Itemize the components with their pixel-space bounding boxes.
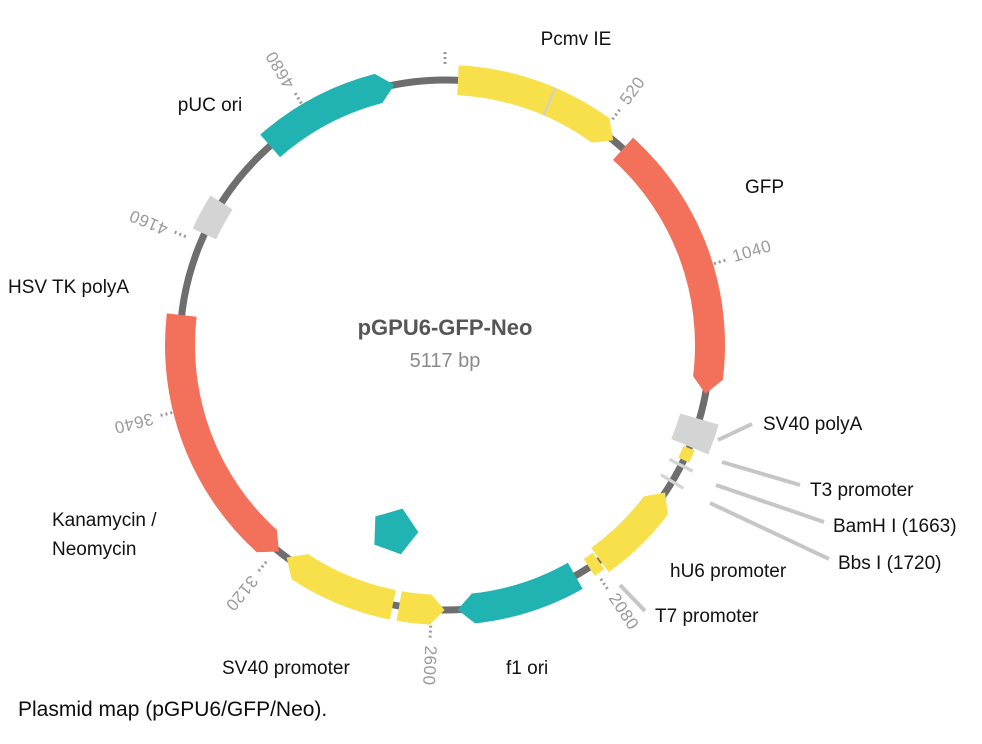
tick-label: 3640 bbox=[112, 409, 155, 437]
feature-label-hsv-tk-polya: HSV TK polyA bbox=[8, 277, 129, 298]
tick-mark bbox=[173, 231, 186, 236]
tick-label: 3120 bbox=[222, 572, 262, 615]
feature-sv40-polya[interactable] bbox=[671, 413, 718, 454]
plasmid-name: pGPU6-GFP-Neo bbox=[358, 315, 533, 340]
feature-marker-pentagon[interactable] bbox=[374, 509, 418, 555]
feature-label-hu6-promoter: hU6 promoter bbox=[670, 561, 787, 582]
feature-label-gfp: GFP bbox=[745, 177, 784, 198]
feature-hsv-tk-polya[interactable] bbox=[193, 196, 233, 240]
center-text-group: pGPU6-GFP-Neo 5117 bp bbox=[358, 315, 533, 372]
callout-group: SV40 polyAT3 promoterBamH I (1663)Bbs I … bbox=[620, 414, 957, 627]
tick-label: 4680 bbox=[262, 48, 299, 92]
feature-pcmv-ie[interactable] bbox=[457, 65, 613, 142]
feature-f1-ori[interactable] bbox=[458, 563, 583, 624]
callout-label-t3-promoter: T3 promoter bbox=[810, 480, 914, 501]
plasmid-size: 5117 bp bbox=[410, 350, 481, 372]
feature-hu6-promoter[interactable] bbox=[591, 493, 668, 573]
plasmid-map-svg: 5201040208026003120364041604680 SV40 pol… bbox=[0, 0, 982, 700]
callout-label-bamh-i-1663: BamH I (1663) bbox=[833, 516, 957, 537]
tick-label: 2080 bbox=[605, 590, 643, 634]
tick-label: 520 bbox=[616, 73, 649, 108]
callout-leader bbox=[716, 485, 824, 522]
feature-label-kanamycin: Kanamycin / bbox=[52, 510, 157, 531]
tick-mark bbox=[601, 579, 609, 591]
feature-gfp[interactable] bbox=[613, 138, 725, 394]
feature-sv40-promoter[interactable] bbox=[397, 591, 445, 624]
callout-leader bbox=[718, 424, 752, 440]
tick-mark bbox=[612, 108, 620, 119]
callout-leader bbox=[710, 503, 829, 559]
feature-label-neomycin: Neomycin bbox=[52, 539, 136, 560]
tick-mark bbox=[159, 413, 173, 416]
feature-kanamycin-neomycin[interactable] bbox=[165, 313, 279, 552]
callout-label-t7-promoter: T7 promoter bbox=[655, 606, 759, 627]
feature-label-f1-ori: f1 ori bbox=[506, 658, 548, 679]
plasmid-map-canvas: 5201040208026003120364041604680 SV40 pol… bbox=[0, 0, 982, 700]
tick-mark bbox=[294, 91, 301, 103]
feature-label-pcmv-ie: Pcmv IE bbox=[541, 29, 612, 50]
tick-label: 1040 bbox=[730, 236, 774, 266]
callout-leader bbox=[722, 462, 800, 485]
callout-label-bbs-i-1720: Bbs I (1720) bbox=[838, 553, 942, 574]
tick-mark bbox=[430, 626, 431, 640]
feature-sv40-promoter-b[interactable] bbox=[287, 554, 396, 619]
tick-label: 4160 bbox=[126, 206, 170, 239]
feature-label-puc-ori: pUC ori bbox=[178, 95, 242, 116]
tick-mark bbox=[257, 562, 266, 573]
feature-label-sv40-promoter: SV40 promoter bbox=[222, 658, 350, 679]
label-group: Pcmv IEGFPpUC oriHSV TK polyAKanamycin /… bbox=[8, 29, 787, 679]
figure-caption: Plasmid map (pGPU6/GFP/Neo). bbox=[18, 698, 327, 722]
tick-mark bbox=[714, 260, 727, 264]
feature-group bbox=[165, 65, 725, 624]
tick-label: 2600 bbox=[419, 645, 440, 686]
callout-label-sv40-polya: SV40 polyA bbox=[763, 414, 863, 435]
